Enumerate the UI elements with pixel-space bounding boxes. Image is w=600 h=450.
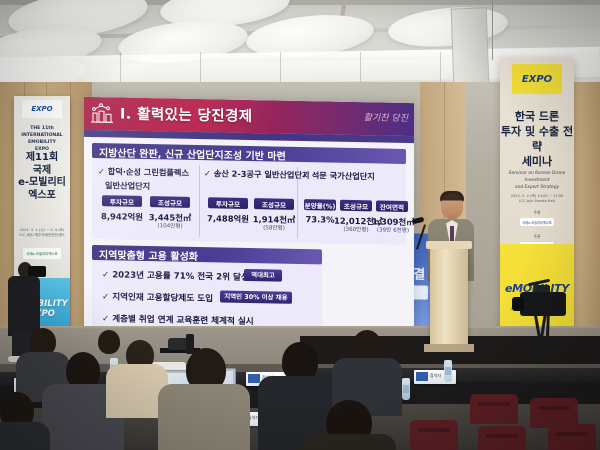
sponsor-label: 주관 [500,234,574,240]
floor-camera-head [186,334,194,354]
chair [470,394,518,424]
chip-sales-rate: 분양율(%) [304,199,336,211]
panel-seam [280,52,281,82]
water-bottle [402,378,410,400]
kr-line-2: 국제 [14,165,70,178]
chip-development-scale: 조성규모 [150,196,190,208]
section2-heading: 지역맞춤형 고용 활성화 [99,246,198,263]
audience-head [98,330,120,354]
column2-title: ✓ 송산 2-3공구 일반산업단지 [204,167,310,181]
podium [430,246,468,346]
column-hapdeok: ✓ 합덕·순성 그린컴플렉스 일반산업단지 [98,165,189,193]
hanging-wire [492,0,493,60]
date-line-2: ICC JEJU 제주국제컨벤션센터 [14,233,70,238]
name-plate-accent [248,374,260,383]
chair [410,420,458,450]
expo-logo-text: EXPO [522,74,552,85]
kr-line-2: 투자 및 수출 전략 [500,125,574,155]
section2-heading-bar: 지역맞춤형 고용 활성화 [92,245,322,264]
name-plate-text: 참석자 [430,373,441,379]
expo-logo-top: EXPO [512,64,562,94]
sub-remaining-area: (39만 6천평) [372,225,414,234]
host-label: 주최 [500,210,574,216]
chip-label: 분양율(%) [304,200,336,211]
chip-label: 조성규모 [150,197,190,208]
kr-line-1: 제11회 [14,152,70,165]
panel-seam [440,52,441,82]
ceiling-speaker-box [451,7,490,84]
panel-seam [200,52,201,82]
column3-title: ✓ 석문 국가산업단지 [302,169,375,182]
kr-line-3: 세미나 [500,155,574,170]
podium-base [424,344,474,352]
sub-development-scale: (104만평) [146,221,194,230]
en-line-2: INTERNATIONAL [14,133,70,140]
chip-remaining-area: 잔여면적 [376,200,408,212]
right-banner-subtitle: Seminar on Korean Drone Investment and E… [500,170,574,191]
slide-title: Ⅰ. 활력있는 당진경제 [120,103,253,127]
chip-development-scale: 조성규모 [254,198,294,210]
date-line-2: ICC Jeju Samda Hall [500,199,574,204]
kr-line-4: 엑스포 [14,190,70,203]
name-plate-accent [416,372,428,381]
badge-label: 역대최고 [244,270,282,280]
chip-label: 투자규모 [102,196,142,207]
value-investment-scale: 8,942억원 [98,210,146,223]
left-banner-korean: 제11회 국제 e-모빌리티 엑스포 [14,152,70,202]
podium-top [426,241,472,249]
speaker-tie [450,226,454,242]
audience-body [300,434,396,450]
audience-body [158,384,250,450]
camera-lens [512,297,524,311]
expo-logo-text: EXPO [31,105,52,113]
water-bottle [444,360,452,382]
video-camera-body [520,292,566,316]
kr-line-3: e-모빌리티 [14,177,70,190]
right-banner-title: 한국 드론 투자 및 수출 전략 세미나 [500,110,574,169]
chip-investment-scale: 투자규모 [102,195,142,207]
audience-body [0,422,50,450]
industry-chart-icon [90,102,114,124]
expo-logo-top: EXPO [22,100,62,118]
en-line-1: THE 11th [14,126,70,133]
column-divider [199,165,200,237]
ceiling-acoustic-panel [387,3,510,51]
photographer-body [8,276,40,336]
slide-handwriting: 활기찬 당진 [364,110,408,124]
chip-label: 조성규모 [254,199,294,210]
conference-photo-scene: 충청남도 · 당진시 · 기업 3 공동 기업 투자협약 (MOU) 체결 20… [0,0,600,450]
chip-label: 잔여면적 [376,201,408,212]
en-line-1: Seminar on Korean Drone Investment [500,170,574,184]
column-songsan: ✓ 송산 2-3공구 일반산업단지 [204,167,310,181]
projected-slide: Ⅰ. 활력있는 당진경제 활기찬 당진 지방산단 완판, 신규 산업단지조성 기… [84,97,414,346]
badge-label: 지역민 30% 이상 채용 [220,292,292,302]
right-banner-dates: 2024. 5. 2.(목) 14:00 ~ 17:00 ICC Jeju Sa… [500,194,574,205]
chair [478,426,526,450]
column-seokmun: ✓ 석문 국가산업단지 [302,169,375,182]
chip-investment-scale: 투자규모 [208,197,248,209]
value-investment-scale: 7,488억원 [204,212,252,225]
host-logo: 국제e-모빌리티엑스포 [520,218,554,226]
panel-seam [360,52,361,82]
column1-title-line2: 일반산업단지 [105,179,189,193]
chair [548,424,596,450]
left-banner-english: THE 11th INTERNATIONAL EMOBILITY EXPO [14,126,70,154]
left-banner-dates: 2024. 5. 1.(수) ~ 5. 4.(토) ICC JEJU 제주국제컨… [14,228,70,239]
badge-local-quota: 지역민 30% 이상 채용 [220,290,292,303]
chip-development-scale: 조성규모 [340,200,372,212]
badge-record-high: 역대최고 [244,269,282,282]
sub-development-scale: (58만평) [250,223,298,232]
kr-line-1: 한국 드론 [500,110,574,125]
chip-label: 조성규모 [340,200,372,211]
en-line-2: and Export Strategy [500,184,574,191]
column1-title-line1: ✓ 합덕·순성 그린컴플렉스 [98,165,189,179]
wood-grain-line [70,82,71,350]
panel-seam [120,52,121,82]
employment-bullet-2: ✓ 지역인재 고용할당제도 도입 [102,290,213,304]
en-line-3: EMOBILITY [14,140,70,147]
chip-label: 투자규모 [208,198,248,209]
left-banner-organizer: 국제e-모빌리티엑스포 [23,248,61,259]
